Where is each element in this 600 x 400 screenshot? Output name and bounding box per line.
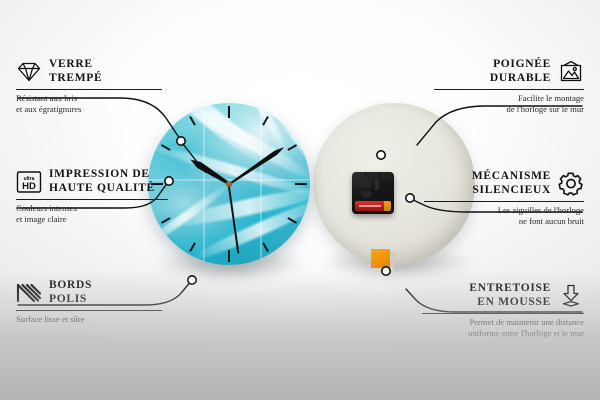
connector-dot-poignee — [377, 151, 385, 159]
feature-description: Résistant aux bris et aux égratignures — [16, 93, 166, 115]
feature-rule — [422, 313, 584, 314]
feature-header: VERRE TREMPÉ — [16, 58, 166, 85]
feature-title: IMPRESSION DE HAUTE QUALITÉ — [49, 168, 155, 195]
connector-tail-poignee-a — [183, 144, 205, 172]
feature-header: POIGNÉE DURABLE — [430, 58, 584, 85]
foam-spacer-icon — [558, 284, 584, 308]
feature-title: POIGNÉE DURABLE — [490, 58, 551, 85]
diamond-icon — [16, 61, 42, 83]
ultra-hd-icon: ultra HD — [16, 170, 42, 194]
gear-icon — [558, 171, 584, 196]
feature-rule — [16, 199, 168, 200]
connector-dot-bords-polis — [188, 276, 196, 284]
feature-description: Les aiguilles de l'horloge ne font aucun… — [420, 205, 584, 227]
feature-entretoise-en-mousse[interactable]: ENTRETOISE EN MOUSSE Permet de maintenir… — [418, 282, 584, 339]
picture-frame-icon — [558, 60, 584, 84]
feature-bords-polis[interactable]: BORDS POLIS Surface lisse et sûre — [16, 279, 166, 325]
feature-impression-haute-qualite[interactable]: ultra HD IMPRESSION DE HAUTE QUALITÉ Cou… — [16, 168, 176, 225]
feature-description: Couleurs intenses et image claire — [16, 203, 176, 225]
feature-header: ENTRETOISE EN MOUSSE — [418, 282, 584, 309]
connector-dot-entretoise — [382, 267, 390, 275]
feature-callout-diagram: VERRE TREMPÉ Résistant aux bris et aux é… — [0, 0, 600, 400]
feature-description: Surface lisse et sûre — [16, 314, 166, 325]
connector-dot-verre-trempe — [177, 137, 185, 145]
feature-title: BORDS POLIS — [49, 279, 92, 306]
feature-description: Permet de maintenir une distance uniform… — [418, 317, 584, 339]
polished-edges-icon — [16, 282, 42, 304]
feature-verre-trempe[interactable]: VERRE TREMPÉ Résistant aux bris et aux é… — [16, 58, 166, 115]
connector-dot-mecanisme — [406, 194, 414, 202]
feature-rule — [434, 89, 584, 90]
feature-rule — [424, 201, 584, 202]
feature-title: ENTRETOISE EN MOUSSE — [469, 282, 551, 309]
feature-poignee-durable[interactable]: POIGNÉE DURABLE Facilite le montage de l… — [430, 58, 584, 115]
feature-rule — [16, 310, 162, 311]
feature-mecanisme-silencieux[interactable]: MÉCANISME SILENCIEUX Les aiguilles de l'… — [420, 170, 584, 227]
svg-text:HD: HD — [22, 181, 36, 192]
feature-header: BORDS POLIS — [16, 279, 166, 306]
feature-description: Facilite le montage de l'horloge sur le … — [430, 93, 584, 115]
feature-rule — [16, 89, 162, 90]
feature-header: ultra HD IMPRESSION DE HAUTE QUALITÉ — [16, 168, 176, 195]
feature-title: VERRE TREMPÉ — [49, 58, 102, 85]
feature-header: MÉCANISME SILENCIEUX — [420, 170, 584, 197]
feature-title: MÉCANISME SILENCIEUX — [472, 170, 551, 197]
